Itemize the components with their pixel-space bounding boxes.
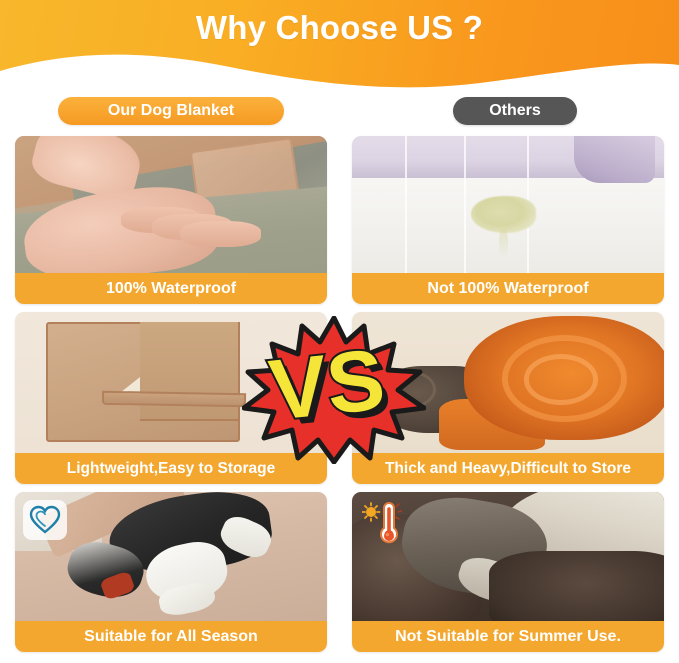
photo-folded-tan-blanket [15,312,327,453]
pillow-seam-2 [464,136,466,273]
card-others-waterproof: Not 100% Waterproof [352,136,664,304]
stain-streak [499,229,508,259]
comparison-infographic: Why Choose US ? Our Dog Blanket Others [0,0,679,663]
urine-stain [471,196,537,233]
caption-ours-weight: Lightweight,Easy to Storage [15,453,327,484]
hot-thermometer-sun-icon [362,500,404,548]
hot-weather-badge [362,500,404,548]
card-ours-season: Suitable for All Season [15,492,327,652]
caption-others-season: Not Suitable for Summer Use. [352,621,664,652]
header-banner: Why Choose US ? [0,0,679,95]
photo-stained-white-bed-sheet [352,136,664,273]
comparison-grid: 100% Waterproof Not 100% Waterproof [0,136,679,660]
finger-3 [180,221,261,247]
dark-roll-spiral [386,371,436,408]
card-others-season: Not Suitable for Summer Use. [352,492,664,652]
header-wave-divider [0,45,679,95]
comparison-row-waterproof: 100% Waterproof Not 100% Waterproof [0,136,679,304]
card-ours-weight: Lightweight,Easy to Storage [15,312,327,484]
caption-ours-waterproof: 100% Waterproof [15,273,327,304]
orange-roll-spiral-inner [524,354,599,405]
photo-dog-lying-on-tan-blanket [15,492,327,621]
comparison-row-season: Suitable for All Season [0,492,679,652]
photo-hand-lifting-waterproof-blanket [15,136,327,273]
card-ours-waterproof: 100% Waterproof [15,136,327,304]
comparison-row-weight: Lightweight,Easy to Storage Thick and He… [0,312,679,484]
caption-others-waterproof: Not 100% Waterproof [352,273,664,304]
heart-watermark-badge [23,500,67,540]
caption-ours-season: Suitable for All Season [15,621,327,652]
column-header-others: Others [453,97,577,125]
pillow-seam-1 [405,136,407,273]
page-title: Why Choose US ? [0,9,679,47]
heart-outline-icon [29,505,61,535]
column-header-our-dog-blanket: Our Dog Blanket [58,97,284,125]
card-others-weight: Thick and Heavy,Difficult to Store [352,312,664,484]
photo-dog-sleeping-on-dark-fur-blanket [352,492,664,621]
fur-blanket-right [489,551,664,621]
caption-others-weight: Thick and Heavy,Difficult to Store [352,453,664,484]
photo-rolled-thick-blankets [352,312,664,453]
pillow-shadowed [574,136,655,183]
